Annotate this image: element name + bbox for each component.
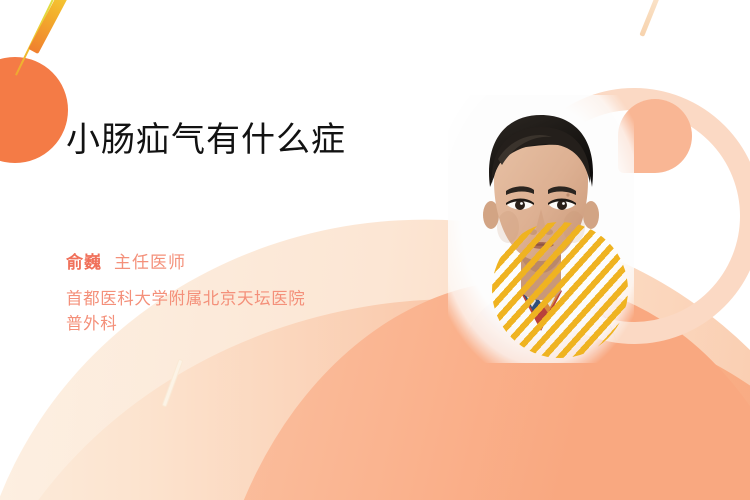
faint-peach-diagonal-line	[639, 0, 665, 37]
doctor-name-row: 俞巍主任医师	[66, 248, 186, 273]
doctor-portrait-photo	[448, 95, 634, 363]
doctor-info-card: 小肠疝气有什么症 俞巍主任医师 首都医科大学附属北京天坛医院 普外科	[0, 0, 750, 500]
doctor-hospital: 首都医科大学附属北京天坛医院	[66, 287, 305, 311]
doctor-department: 普外科	[66, 312, 117, 336]
doctor-name: 俞巍	[66, 253, 102, 272]
cream-wave-shape	[0, 195, 750, 500]
orange-circle-shape	[0, 57, 68, 163]
doctor-professional-title: 主任医师	[114, 253, 186, 272]
faint-cream-diagonal-line	[162, 359, 184, 408]
orange-gradient-diagonal-line	[28, 0, 74, 54]
avatar	[448, 95, 634, 363]
yellow-thin-diagonal-line	[15, 0, 59, 76]
page-title: 小肠疝气有什么症	[66, 120, 346, 161]
